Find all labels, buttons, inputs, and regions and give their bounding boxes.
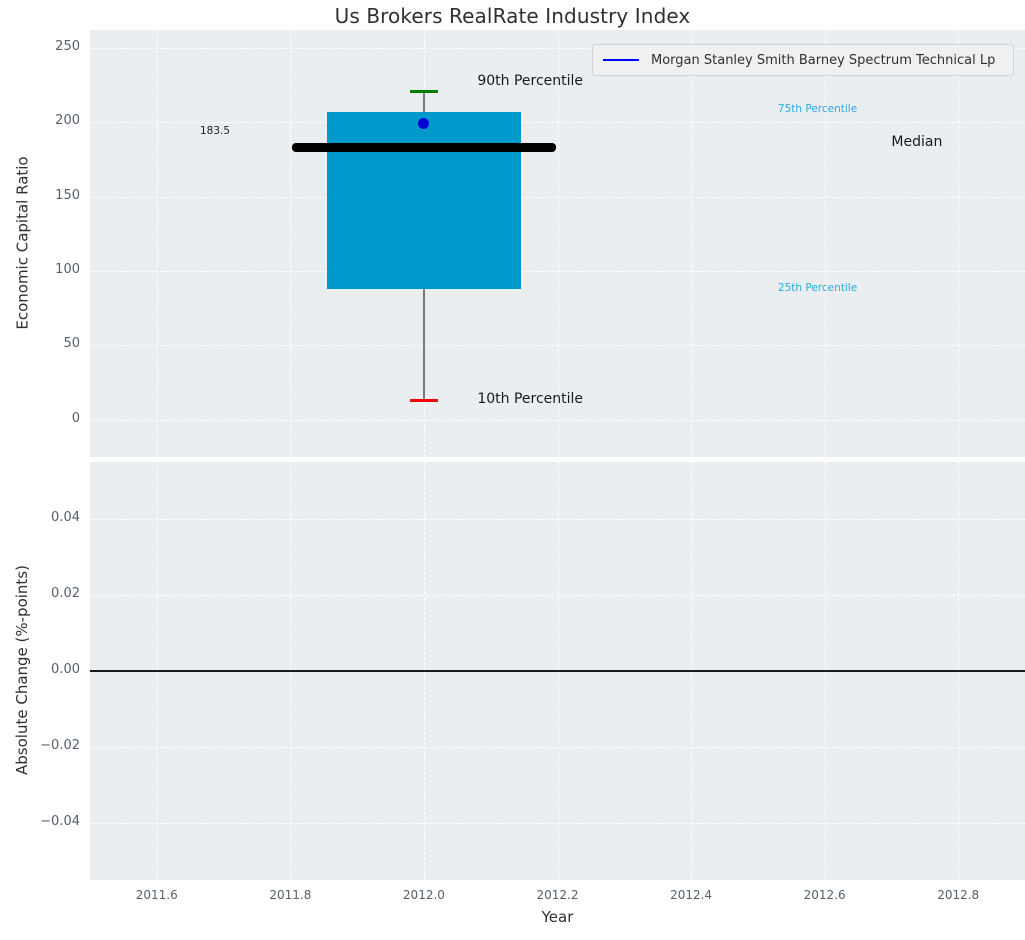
whisker-cap-90th-percentile — [410, 90, 438, 93]
gridline-vertical — [290, 30, 291, 457]
whisker-cap-10th-percentile — [410, 399, 438, 402]
y-axis-tick-label: 200 — [0, 113, 80, 128]
y-axis-tick-label: 0 — [0, 411, 80, 426]
x-axis-label: Year — [90, 908, 1025, 926]
y-axis-tick-label: −0.04 — [0, 814, 80, 829]
y-axis-tick-label: 0.02 — [0, 586, 80, 601]
x-axis-tick-label: 2011.8 — [245, 888, 335, 902]
y-axis-tick-label: 50 — [0, 336, 80, 351]
median-value-label: 183.5 — [200, 125, 230, 137]
annotation-label: 25th Percentile — [778, 282, 857, 294]
annotation-label: 75th Percentile — [778, 103, 857, 115]
plot-panel-absolute-change — [90, 462, 1025, 880]
x-axis-tick-label: 2012.0 — [379, 888, 469, 902]
x-axis-tick-label: 2012.2 — [513, 888, 603, 902]
annotation-label: 90th Percentile — [477, 73, 583, 89]
legend-entry-label: Morgan Stanley Smith Barney Spectrum Tec… — [651, 53, 995, 68]
box-bar-interquartile — [327, 112, 521, 289]
gridline-vertical — [958, 30, 959, 457]
annotation-label: 10th Percentile — [477, 391, 583, 407]
y-axis-tick-label: 150 — [0, 188, 80, 203]
x-axis-tick-label: 2012.8 — [913, 888, 1003, 902]
gridline-vertical — [825, 30, 826, 457]
y-axis-tick-label: 100 — [0, 262, 80, 277]
figure-canvas: Us Brokers RealRate Industry Index Econo… — [0, 0, 1025, 940]
y-axis-tick-label: 0.00 — [0, 662, 80, 677]
x-axis-tick-label: 2011.6 — [112, 888, 202, 902]
zero-reference-line — [90, 670, 1025, 672]
y-axis-tick-label: 250 — [0, 39, 80, 54]
gridline-vertical — [691, 30, 692, 457]
legend-line-swatch-icon — [603, 59, 639, 61]
x-axis-tick-label: 2012.6 — [780, 888, 870, 902]
legend[interactable]: Morgan Stanley Smith Barney Spectrum Tec… — [592, 44, 1014, 76]
median-line — [292, 143, 556, 152]
annotation-label: Median — [891, 134, 942, 150]
x-axis-tick-label: 2012.4 — [646, 888, 736, 902]
gridline-vertical — [157, 30, 158, 457]
y-axis-label-top: Economic Capital Ratio — [13, 29, 31, 456]
y-axis-tick-label: −0.02 — [0, 738, 80, 753]
chart-title: Us Brokers RealRate Industry Index — [0, 4, 1025, 28]
y-axis-tick-label: 0.04 — [0, 510, 80, 525]
